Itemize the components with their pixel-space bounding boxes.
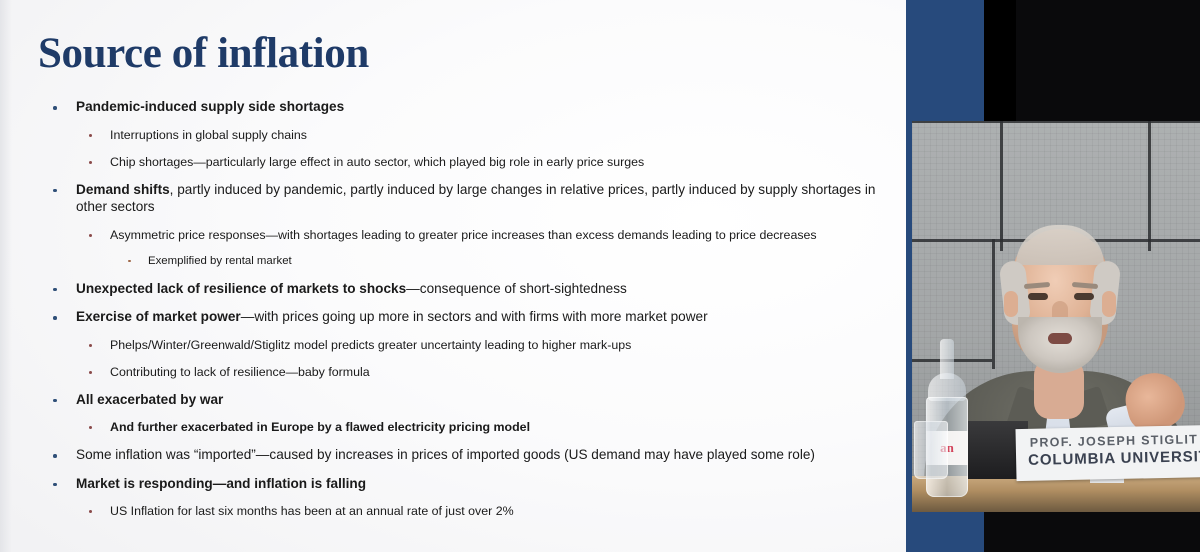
bullet-text: Market is responding—and inflation is fa…	[76, 475, 892, 493]
bullet-text: Exercise of market power—with prices goi…	[76, 308, 892, 326]
bullet-dot-icon	[128, 260, 131, 263]
bullet-item-l1: All exacerbated by war	[0, 391, 906, 409]
bullet-dot-icon	[53, 316, 57, 320]
bullet-item-l3: Exemplified by rental market	[0, 254, 906, 269]
bullet-text: US Inflation for last six months has bee…	[110, 503, 892, 519]
bullet-item-l1: Pandemic-induced supply side shortages	[0, 98, 906, 116]
bullet-text: Asymmetric price responses—with shortage…	[110, 227, 892, 243]
eye-left	[1028, 293, 1048, 300]
ear-right	[1102, 291, 1116, 317]
bullet-text-emphasis: Demand shifts	[76, 182, 170, 197]
bullet-item-l1: Demand shifts, partly induced by pandemi…	[0, 181, 906, 216]
bullet-item-l1: Exercise of market power—with prices goi…	[0, 308, 906, 326]
bullet-text: Demand shifts, partly induced by pandemi…	[76, 181, 892, 216]
bullet-item-l2: Phelps/Winter/Greenwald/Stiglitz model p…	[0, 337, 906, 353]
bullet-item-l1: Market is responding—and inflation is fa…	[0, 475, 906, 493]
nameplate-name: PROF. JOSEPH STIGLIT	[1030, 432, 1199, 450]
bullet-text-emphasis: Market is responding—and inflation is fa…	[76, 476, 366, 491]
bullet-text-emphasis: And further exacerbated in Europe by a f…	[110, 420, 530, 434]
bullet-dot-icon	[89, 161, 92, 164]
bullet-dot-icon	[53, 399, 57, 403]
bullet-dot-icon	[53, 189, 57, 193]
speaker-video-tile[interactable]: an PROF. JOSEPH STIGLIT COLUMBIA UNIVERS…	[912, 121, 1200, 512]
bullet-item-l1: Some inflation was “imported”—caused by …	[0, 446, 906, 464]
bullet-text: Contributing to lack of resilience—baby …	[110, 364, 892, 380]
bullet-text-emphasis: Exercise of market power	[76, 309, 241, 324]
drinking-glass	[914, 421, 948, 479]
bullet-text-emphasis: Unexpected lack of resilience of markets…	[76, 281, 406, 296]
bullet-dot-icon	[53, 483, 57, 487]
mouth	[1048, 333, 1072, 344]
bullet-item-l2: Asymmetric price responses—with shortage…	[0, 227, 906, 243]
bullet-text: Phelps/Winter/Greenwald/Stiglitz model p…	[110, 337, 892, 353]
bullet-dot-icon	[53, 106, 57, 110]
eye-right	[1074, 293, 1094, 300]
speaker-nameplate: PROF. JOSEPH STIGLIT COLUMBIA UNIVERSIT	[1015, 425, 1200, 481]
bullet-text: Unexpected lack of resilience of markets…	[76, 280, 892, 298]
bullet-item-l2: And further exacerbated in Europe by a f…	[0, 419, 906, 435]
screen: Source of inflation Pandemic-induced sup…	[0, 0, 1200, 552]
bullet-dot-icon	[89, 510, 92, 513]
black-strip	[984, 0, 1016, 122]
bullet-text: Pandemic-induced supply side shortages	[76, 98, 892, 116]
bullet-item-l2: Contributing to lack of resilience—baby …	[0, 364, 906, 380]
bullet-dot-icon	[89, 134, 92, 137]
bullet-text: Chip shortages—particularly large effect…	[110, 154, 892, 170]
bullet-item-l2: Interruptions in global supply chains	[0, 127, 906, 143]
beard	[1018, 317, 1102, 373]
nameplate-affiliation: COLUMBIA UNIVERSIT	[1028, 448, 1200, 469]
bullet-text: All exacerbated by war	[76, 391, 892, 409]
bullet-dot-icon	[89, 371, 92, 374]
hair	[1016, 225, 1104, 265]
bullet-dot-icon	[89, 234, 92, 237]
bullet-text: Exemplified by rental market	[148, 254, 892, 269]
bullet-item-l1: Unexpected lack of resilience of markets…	[0, 280, 906, 298]
presentation-slide: Source of inflation Pandemic-induced sup…	[0, 0, 906, 552]
bullet-text: And further exacerbated in Europe by a f…	[110, 419, 892, 435]
bullet-dot-icon	[89, 426, 92, 429]
ear-left	[1004, 291, 1018, 317]
bullet-dot-icon	[53, 454, 57, 458]
page-title: Source of inflation	[38, 29, 369, 78]
bullet-text: Some inflation was “imported”—caused by …	[76, 446, 892, 464]
bullet-dot-icon	[89, 344, 92, 347]
bullet-item-l2: Chip shortages—particularly large effect…	[0, 154, 906, 170]
bullet-dot-icon	[53, 288, 57, 292]
bullet-text: Interruptions in global supply chains	[110, 127, 892, 143]
bullet-list: Pandemic-induced supply side shortagesIn…	[0, 98, 906, 530]
bullet-text-emphasis: All exacerbated by war	[76, 392, 223, 407]
bullet-item-l2: US Inflation for last six months has bee…	[0, 503, 906, 519]
bullet-text-emphasis: Pandemic-induced supply side shortages	[76, 99, 344, 114]
